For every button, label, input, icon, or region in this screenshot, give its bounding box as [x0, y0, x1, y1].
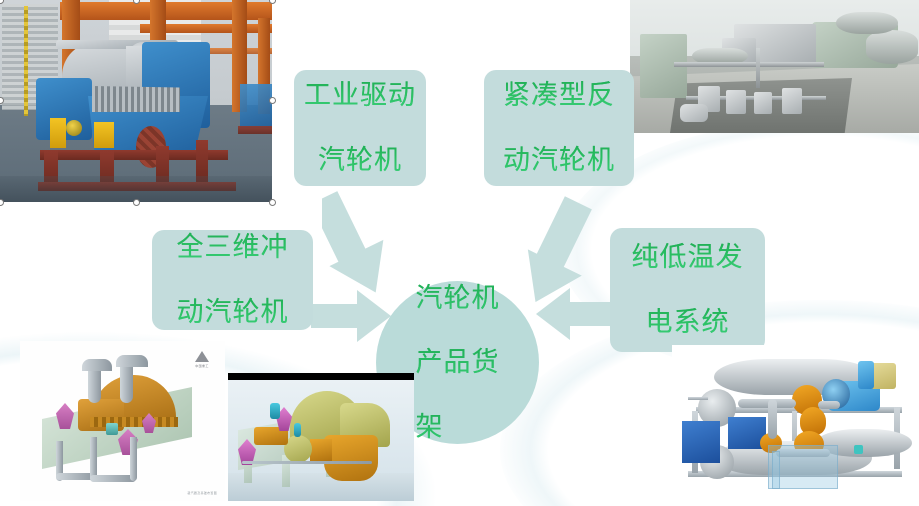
steam-pipe-branch [756, 48, 760, 88]
turbine-support-block-left [50, 118, 66, 148]
low-temperature-orc-render[interactable] [672, 345, 919, 501]
process-pipe-to-generator [818, 401, 840, 409]
base-rail [242, 461, 372, 464]
valve-block [106, 423, 118, 435]
arrow-lowtemp-to-hub [534, 286, 616, 342]
background-turbine-base [238, 126, 272, 134]
logo-triangle-icon [195, 351, 209, 362]
instrument-stem [688, 397, 708, 400]
selection-handle-bottom-right[interactable] [269, 199, 276, 206]
presentation-slide: 工业驱动汽轮机 紧凑型反动汽轮机 全三维冲动汽轮机 纯低温发电系统 汽轮机产品货… [0, 0, 919, 506]
sensor-fitting [854, 445, 863, 454]
company-logo: 中国重工 [187, 351, 217, 368]
node-compact-reaction-turbine[interactable]: 紧凑型反动汽轮机 [484, 70, 634, 186]
process-pipe-upper [738, 399, 796, 408]
node-lowtemp-label: 纯低温发电系统 [632, 241, 744, 340]
auxiliary-skid-4 [782, 88, 802, 114]
circulating-loop-3 [130, 437, 137, 481]
node-low-temperature-power-system[interactable]: 纯低温发电系统 [610, 228, 765, 352]
turbine-bearing-wheel [66, 120, 82, 136]
render-top-border [228, 373, 414, 380]
node-compact-label: 紧凑型反动汽轮机 [503, 79, 615, 178]
selection-handle-bottom-center[interactable] [133, 199, 140, 206]
inlet-elbow-right [116, 355, 148, 367]
steam-pipe-main [674, 62, 824, 67]
instrument-probe-1 [270, 403, 280, 419]
impulse-turbine-condenser-render[interactable]: 中国重工 凝汽器及基础布置图 [20, 341, 225, 501]
render-caption: 凝汽器及基础布置图 [187, 491, 217, 495]
turbine-support-block-right [94, 122, 114, 148]
selection-handle-middle-right[interactable] [269, 97, 276, 104]
node-3d-impulse-turbine[interactable]: 全三维冲动汽轮机 [152, 230, 313, 330]
condenser-skirt [90, 417, 178, 427]
arrow-industrial-to-hub [322, 190, 418, 302]
node-impulse-label: 全三维冲动汽轮机 [177, 231, 289, 330]
inlet-elbow-left [82, 359, 112, 371]
logo-text: 中国重工 [187, 364, 217, 368]
platform-ladder [772, 451, 780, 489]
node-industrial-drive-turbine[interactable]: 工业驱动汽轮机 [294, 70, 426, 186]
background-turbine-unit [240, 84, 272, 128]
control-cabinet-left [682, 421, 720, 463]
auxiliary-skid-2 [726, 90, 746, 114]
selection-handle-top-right[interactable] [269, 0, 276, 4]
auxiliary-skid-3 [754, 92, 772, 114]
industrial-turbine-photo[interactable] [0, 0, 272, 202]
node-industrial-label: 工业驱动汽轮机 [304, 79, 416, 178]
terminal-box-base [858, 361, 874, 389]
instrument-probe-2 [294, 423, 301, 437]
turbine-blade-row [92, 86, 180, 112]
selection-handle-bottom-left[interactable] [0, 199, 4, 206]
compact-turbine-plant-render[interactable] [630, 0, 919, 133]
bearing-pedestal [310, 439, 332, 461]
generator-rotor-cylinder [866, 30, 918, 64]
rotor-shaft-end [324, 435, 378, 481]
process-pipe-riser [768, 399, 777, 439]
impulse-turbine-rotor-render[interactable] [228, 373, 414, 501]
hub-label: 汽轮机产品货架 [416, 282, 500, 444]
exhaust-flange [284, 435, 312, 463]
ladder [24, 6, 28, 116]
exhaust-cylinder [836, 12, 898, 34]
pump-unit [680, 104, 708, 122]
render-floor [228, 473, 414, 501]
